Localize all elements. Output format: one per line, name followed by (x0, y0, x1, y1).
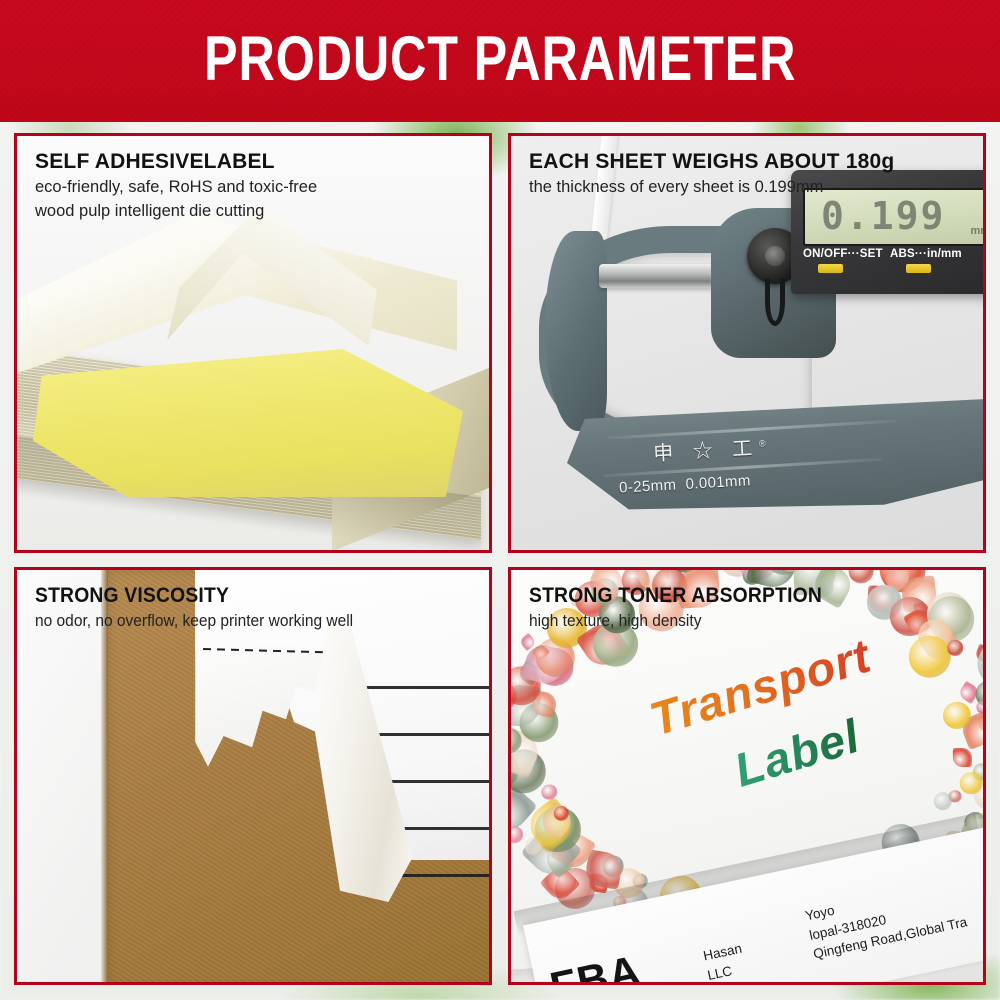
cardboard-edge (101, 570, 108, 985)
panel-self-adhesive-label: SELF ADHESIVELABEL eco-friendly, safe, R… (14, 133, 492, 553)
wreath-flower (677, 567, 721, 609)
wreath-flower (934, 792, 953, 811)
wreath-flower (704, 567, 750, 569)
toner-absorption-photo: Transport Label FBA HasanLLC Yoyolopal-3… (511, 570, 983, 982)
micrometer-lcd-screen: 0.199 mm (803, 188, 986, 246)
header-banner: PRODUCT PARAMETER (0, 0, 1000, 122)
yellow-backing-sheet (33, 349, 463, 497)
registered-mark: ® (759, 438, 773, 449)
lcd-unit: mm (970, 225, 986, 237)
wreath-flower (947, 639, 964, 656)
spec-range: 0-25mm (619, 476, 677, 496)
shipping-address-column-2: Yoyolopal-318020Qingfeng Road,Global Tra (803, 874, 969, 964)
panel-sheet-weight-thickness: 申 ☆ 工® 0-25mm 0.001mm 0.199 mm ON/OFF···… (508, 133, 986, 553)
wreath-flower (953, 748, 972, 767)
shipping-address-column-1: HasanLLC (702, 939, 748, 985)
page-title: PRODUCT PARAMETER (204, 28, 796, 95)
brand-glyphs: 申 ☆ 工 (653, 437, 760, 465)
label-stack-photo (17, 136, 489, 550)
micrometer-anvil (545, 231, 607, 431)
wreath-flower (848, 567, 874, 584)
viscosity-photo (17, 570, 489, 982)
abs-inmm-button[interactable] (906, 264, 931, 273)
micrometer-lock-lever (765, 278, 785, 326)
abs-inmm-button-label: ABS···in/mm (890, 248, 962, 260)
spec-resolution: 0.001mm (685, 472, 751, 493)
carrier-code: FBA (546, 947, 646, 985)
micrometer-photo: 申 ☆ 工® 0-25mm 0.001mm 0.199 mm ON/OFF···… (511, 136, 983, 550)
panel-strong-viscosity: STRONG VISCOSITY no odor, no overflow, k… (14, 567, 492, 985)
onoff-set-button[interactable] (818, 264, 843, 273)
onoff-set-button-label: ON/OFF···SET (803, 248, 883, 260)
lcd-reading: 0.199 (821, 191, 945, 242)
panel-strong-toner-absorption: Transport Label FBA HasanLLC Yoyolopal-3… (508, 567, 986, 985)
feature-panel-grid: SELF ADHESIVELABEL eco-friendly, safe, R… (14, 133, 986, 985)
